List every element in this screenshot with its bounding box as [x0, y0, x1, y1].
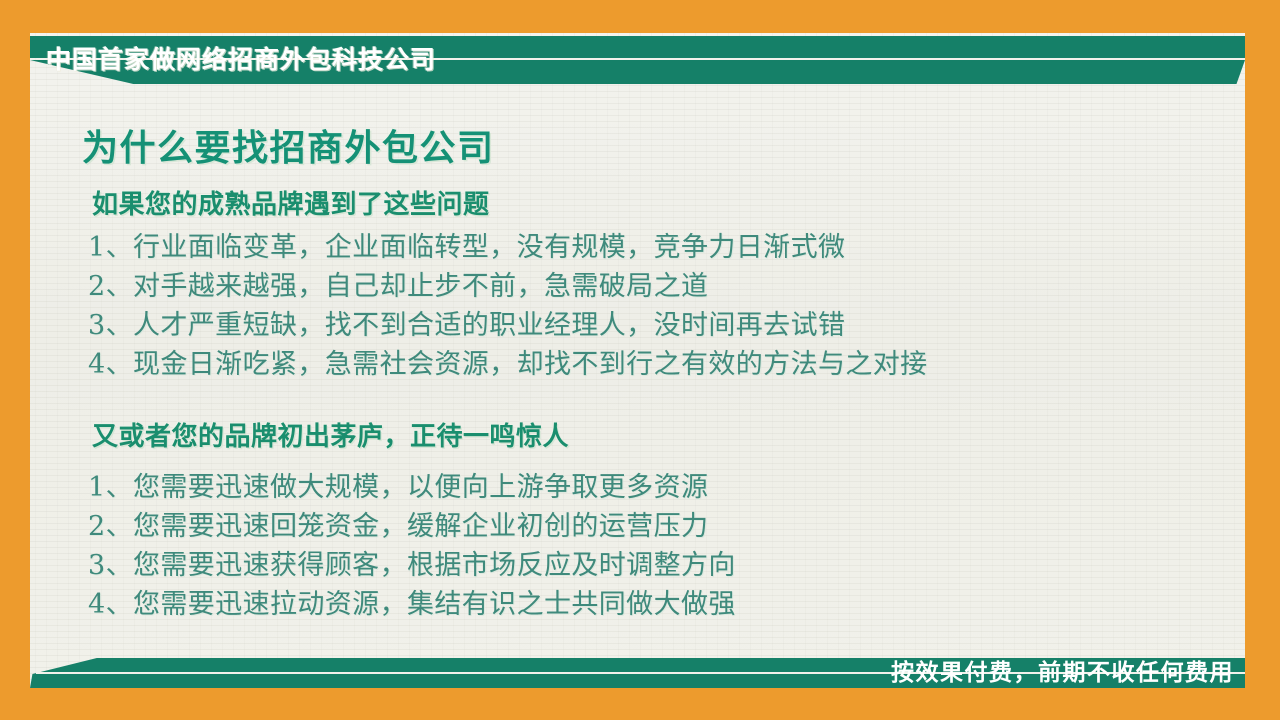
slide-root: 中国首家做网络招商外包科技公司 为什么要找招商外包公司 如果您的成熟品牌遇到了这… [0, 0, 1280, 720]
page-title: 为什么要找招商外包公司 [82, 119, 495, 171]
section-heading-mature-brand: 如果您的成熟品牌遇到了这些问题 [92, 184, 490, 221]
list-mature-brand-problems: 1、行业面临变革，企业面临转型，没有规模，竞争力日渐式微 2、对手越来越强，自己… [88, 228, 928, 384]
list-new-brand-needs: 1、您需要迅速做大规模，以便向上游争取更多资源 2、您需要迅速回笼资金，缓解企业… [88, 468, 736, 624]
list-item: 3、您需要迅速获得顾客，根据市场反应及时调整方向 [88, 546, 736, 585]
main-content: 为什么要找招商外包公司 如果您的成熟品牌遇到了这些问题 1、行业面临变革，企业面… [30, 96, 1245, 636]
list-item: 2、您需要迅速回笼资金，缓解企业初创的运营压力 [88, 507, 736, 546]
list-item: 1、您需要迅速做大规模，以便向上游争取更多资源 [88, 468, 736, 507]
list-item: 3、人才严重短缺，找不到合适的职业经理人，没时间再去试错 [88, 306, 928, 345]
list-item: 1、行业面临变革，企业面临转型，没有规模，竞争力日渐式微 [88, 228, 928, 267]
header-divider-line [312, 58, 1245, 60]
section-heading-new-brand: 又或者您的品牌初出茅庐，正待一鸣惊人 [92, 416, 569, 453]
list-item: 4、您需要迅速拉动资源，集结有识之士共同做大做强 [88, 585, 736, 624]
footer-tagline: 按效果付费，前期不收任何费用 [891, 655, 1234, 689]
header-title: 中国首家做网络招商外包科技公司 [46, 38, 436, 82]
list-item: 2、对手越来越强，自己却止步不前，急需破局之道 [88, 267, 928, 306]
list-item: 4、现金日渐吃紧，急需社会资源，却找不到行之有效的方法与之对接 [88, 345, 928, 384]
